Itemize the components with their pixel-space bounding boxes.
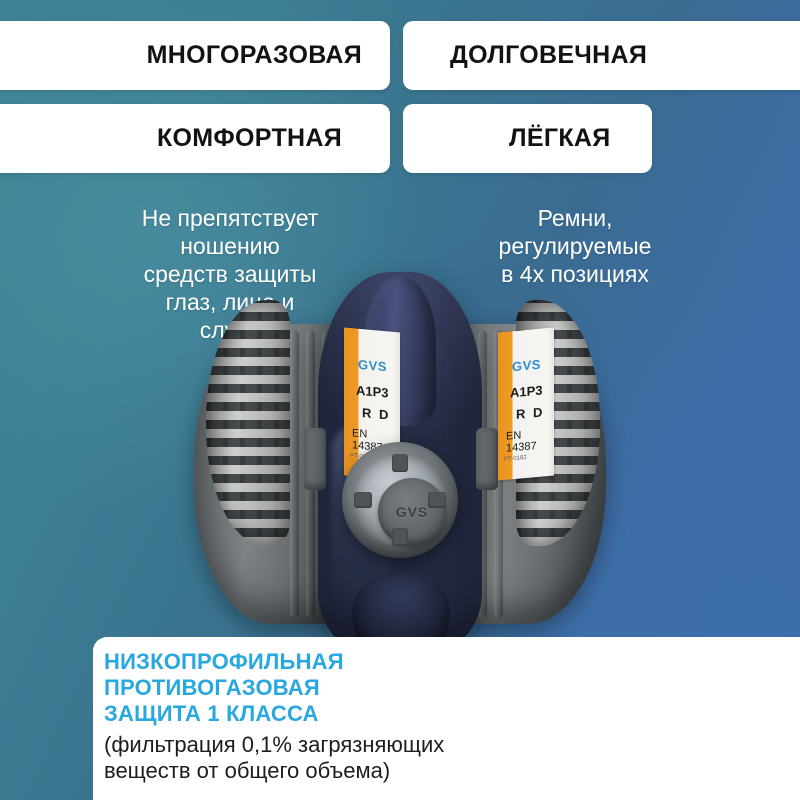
valve-spoke	[428, 492, 446, 508]
cartridge-bayonet-left	[304, 428, 326, 490]
protection-headline-line: НИЗКОПРОФИЛЬНАЯ	[104, 649, 800, 675]
protection-class-panel: НИЗКОПРОФИЛЬНАЯ ПРОТИВОГАЗОВАЯ ЗАЩИТА 1 …	[93, 637, 800, 800]
feature-badge-label: ЛЁГКАЯ	[509, 124, 611, 153]
callout-line: Ремни,	[455, 204, 695, 232]
cartridge-bayonet-right	[476, 428, 498, 490]
feature-badge-comfortable[interactable]: КОМФОРТНАЯ	[0, 104, 390, 173]
filter-brand-text: GVS	[358, 357, 387, 375]
product-image-respirator: GVS A1P3 R D EN 14387 PT-0182 GVS A1P3 R…	[198, 272, 602, 672]
protection-headline-line: ПРОТИВОГАЗОВАЯ	[104, 675, 800, 701]
feature-badge-lightweight[interactable]: ЛЁГКАЯ	[403, 104, 652, 173]
callout-line: регулируемые	[455, 232, 695, 260]
callout-line: ношению	[105, 232, 355, 260]
protection-subtext-line: (фильтрация 0,1% загрязняющих	[104, 732, 800, 758]
filter-standard-text: EN 14387	[506, 427, 554, 455]
cartridge-ridge	[290, 330, 299, 618]
filter-class-text: R D	[516, 404, 544, 421]
feature-badge-multiuse[interactable]: МНОГОРАЗОВАЯ	[0, 21, 390, 90]
callout-line: Не препятствует	[105, 204, 355, 232]
filter-fineprint: PT-0182	[504, 455, 527, 463]
filter-code-text: A1P3	[510, 383, 543, 401]
filter-grille-left	[206, 300, 290, 546]
filter-code-text: A1P3	[356, 383, 389, 401]
gvs-logo-text: GVS	[396, 504, 429, 520]
feature-badge-label: ДОЛГОВЕЧНАЯ	[450, 41, 647, 70]
protection-headline-line: ЗАЩИТА 1 КЛАССА	[104, 701, 800, 727]
valve-spoke	[354, 492, 372, 508]
filter-spec-label-right: GVS A1P3 R D EN 14387 PT-0182	[498, 328, 554, 481]
exhalation-valve: GVS	[342, 442, 458, 558]
valve-hub: GVS	[378, 478, 446, 546]
feature-badge-durable[interactable]: ДОЛГОВЕЧНАЯ	[403, 21, 800, 90]
feature-badge-label: КОМФОРТНАЯ	[157, 124, 342, 153]
grille-shading	[206, 300, 290, 546]
valve-spoke	[392, 528, 408, 546]
protection-subtext: (фильтрация 0,1% загрязняющих веществ от…	[104, 732, 800, 785]
infographic-canvas: МНОГОРАЗОВАЯ ДОЛГОВЕЧНАЯ КОМФОРТНАЯ ЛЁГК…	[0, 0, 800, 800]
filter-class-text: R D	[362, 405, 390, 422]
protection-subtext-line: веществ от общего объема)	[104, 758, 800, 784]
valve-spoke	[392, 454, 408, 472]
filter-brand-text: GVS	[512, 357, 541, 375]
feature-badge-label: МНОГОРАЗОВАЯ	[147, 41, 362, 70]
